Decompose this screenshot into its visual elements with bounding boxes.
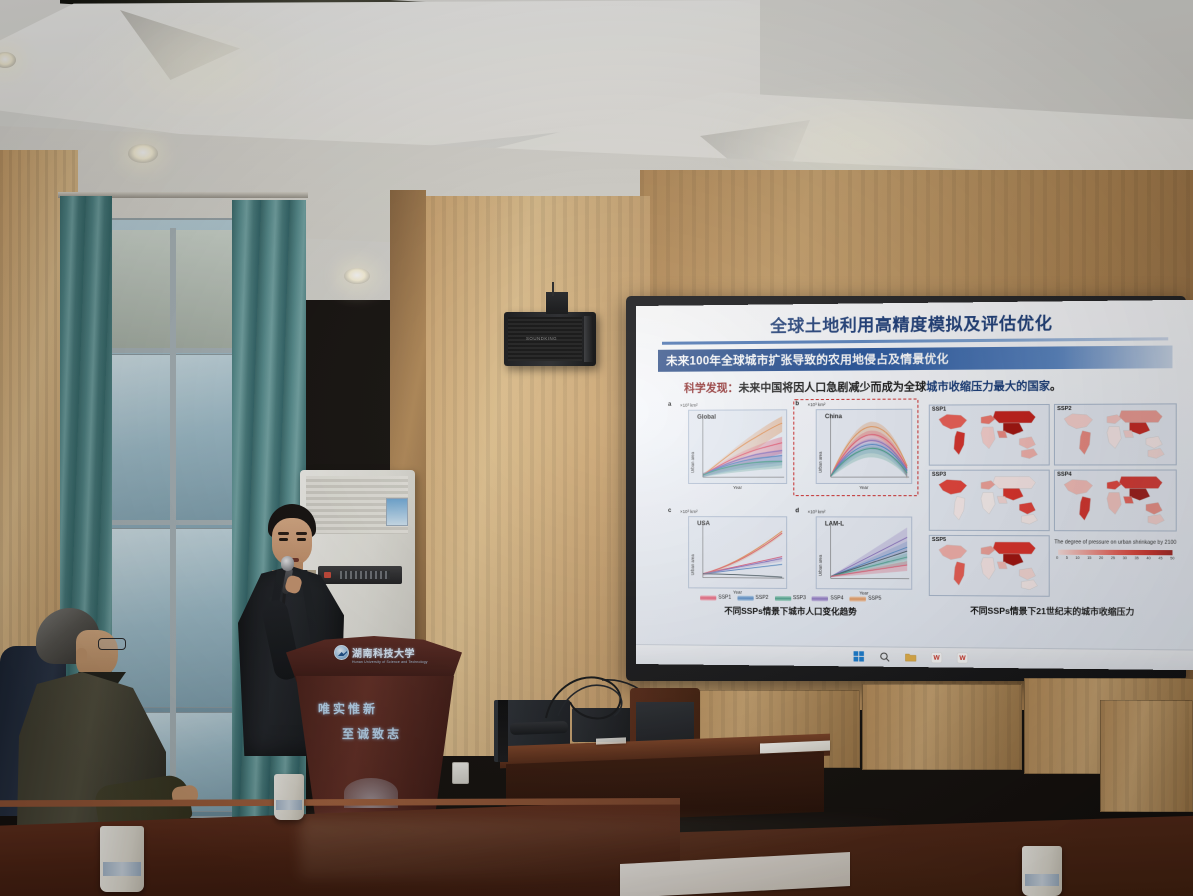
wps-presentation-icon[interactable]: W <box>956 652 968 664</box>
map-ssp3: SSP3 <box>929 470 1050 532</box>
speaker-brand-label: SOUNDKING <box>526 336 557 341</box>
chart-laml: LAM-L Urban area <box>816 516 913 589</box>
map-ssp4-geometry <box>1055 471 1176 531</box>
finding-label: 科学发现： <box>684 382 738 394</box>
presentation-screen[interactable]: 全球土地利用高精度模拟及评估优化 未来100年全球城市扩张导致的农用地侵占及情景… <box>636 300 1193 670</box>
speaker-eye-right <box>297 538 306 541</box>
colorbar-block: The degree of pressure on urban shrinkag… <box>1054 539 1177 555</box>
chart-ylabel-usa: Urban area <box>690 554 695 575</box>
legend-label-ssp3: SSP3 <box>793 595 806 601</box>
podium-motto: 唯实惟新 至诚致志 <box>318 700 438 742</box>
chart-china: China Urban <box>816 409 913 484</box>
map-label-ssp2: SSP2 <box>1057 406 1072 412</box>
legend-item-ssp1: SSP1 <box>700 594 731 600</box>
chart-ylabel-laml: Urban area <box>818 555 823 576</box>
map-ssp1: SSP1 <box>929 404 1050 466</box>
svg-text:W: W <box>933 655 940 662</box>
legend-label-ssp4: SSP4 <box>830 595 843 601</box>
cbar-tick-9: 45 <box>1158 556 1162 560</box>
svg-text:W: W <box>959 655 966 662</box>
map-label-ssp1: SSP1 <box>932 407 946 413</box>
legend-swatch-ssp5 <box>850 596 866 601</box>
finding-text-1: 未来中国将因人口急剧减少而成为全球 <box>738 381 926 394</box>
ac-display <box>340 571 390 579</box>
ac-power-led <box>324 572 331 578</box>
chart-usa: USA Urban area Year <box>688 516 787 589</box>
speaker-cable <box>552 282 554 296</box>
legend-label-ssp1: SSP1 <box>718 595 731 601</box>
chart-units-d: ×10³ km² <box>808 509 826 514</box>
chart-global-plot <box>689 410 786 483</box>
map-label-ssp3: SSP3 <box>932 472 946 478</box>
audience-ear <box>76 648 87 663</box>
cabinet-2 <box>862 684 1022 770</box>
legend-swatch-ssp4 <box>812 596 828 601</box>
cbar-tick-10: 50 <box>1170 557 1174 561</box>
wall-speaker: SOUNDKING <box>504 312 596 366</box>
colorbar-gradient <box>1058 550 1172 556</box>
downlight-2 <box>128 144 158 163</box>
paper-cup-1[interactable] <box>100 826 144 892</box>
legend-swatch-ssp1 <box>700 595 716 600</box>
ssp-legend: SSP1 SSP2 SSP3 SSP4 <box>666 594 916 602</box>
speaker-eyebrow-right <box>296 532 307 535</box>
map-ssp2-geometry <box>1055 404 1176 464</box>
chart-usa-plot <box>689 517 786 588</box>
chart-units-a: ×10³ km² <box>680 403 698 408</box>
chart-ylabel-china: Urban area <box>818 452 823 473</box>
slide-title: 全球土地利用高精度模拟及评估优化 <box>636 308 1193 338</box>
line-chart-panel: a ×10³ km² Global <box>666 401 916 617</box>
cbar-tick-8: 40 <box>1146 556 1150 560</box>
paper-cup-2[interactable] <box>274 774 304 820</box>
colorbar-title: The degree of pressure on urban shrinkag… <box>1054 539 1177 546</box>
chart-global: Global <box>688 409 787 484</box>
legend-item-ssp2: SSP2 <box>737 595 768 601</box>
cbar-tick-4: 20 <box>1099 556 1103 560</box>
rack-side-shadow <box>498 700 508 762</box>
legend-label-ssp5: SSP5 <box>868 596 881 602</box>
cbar-tick-1: 5 <box>1066 556 1068 560</box>
legend-item-ssp4: SSP4 <box>812 595 843 601</box>
handheld-microphone[interactable] <box>510 721 568 735</box>
motto-line-2: 至诚致志 <box>318 725 438 742</box>
map-ssp4: SSP4 <box>1054 469 1177 531</box>
wps-writer-icon[interactable]: W <box>930 651 942 663</box>
university-name-en: Hunan University of Science and Technolo… <box>352 660 428 664</box>
legend-swatch-ssp2 <box>737 595 753 600</box>
speaker-eyebrow-left <box>278 532 289 535</box>
conference-room-photo: SOUNDKING 全球土地利用高精度模拟及评估优化 未来100年全球城市扩张导… <box>0 0 1193 896</box>
chart-xlabel-china: Year <box>817 485 911 490</box>
ceiling-glow-1 <box>100 20 300 110</box>
university-emblem-icon <box>334 645 349 660</box>
wall-socket[interactable] <box>452 762 469 784</box>
cbar-tick-6: 30 <box>1123 556 1127 560</box>
panel-letter-d: d <box>795 508 799 514</box>
ac-energy-label <box>386 498 408 526</box>
chart-laml-plot <box>817 517 911 588</box>
cabinet-4 <box>1100 700 1193 812</box>
panel-letter-b: b <box>795 401 799 407</box>
university-name-cn: 湖南科技大学 <box>352 645 415 660</box>
map-label-ssp5: SSP5 <box>932 537 946 543</box>
microphone-head <box>281 556 294 571</box>
file-explorer-icon[interactable] <box>904 651 916 663</box>
slide-content: 全球土地利用高精度模拟及评估优化 未来100年全球城市扩张导致的农用地侵占及情景… <box>636 300 1193 650</box>
slide-section-banner: 未来100年全球城市扩张导致的农用地侵占及情景优化 <box>658 346 1172 372</box>
cbar-tick-3: 15 <box>1087 556 1091 560</box>
title-divider <box>662 337 1168 345</box>
search-icon[interactable] <box>878 651 890 663</box>
cbar-tick-5: 25 <box>1111 556 1115 560</box>
map-ssp5-geometry <box>930 536 1049 596</box>
university-logo: 湖南科技大学 <box>334 645 415 660</box>
cbar-tick-0: 0 <box>1056 556 1058 560</box>
map-ssp1-geometry <box>930 405 1049 465</box>
cbar-tick-7: 35 <box>1135 556 1139 560</box>
map-label-ssp4: SSP4 <box>1057 472 1072 478</box>
downlight-4 <box>344 268 370 284</box>
cbar-tick-2: 10 <box>1075 556 1079 560</box>
speaker-bracket <box>546 292 568 314</box>
panel-letter-a: a <box>668 402 671 408</box>
chart-units-c: ×10³ km² <box>680 509 698 514</box>
motto-line-1: 唯实惟新 <box>318 700 438 717</box>
banner-text: 未来100年全球城市扩张导致的农用地侵占及情景优化 <box>658 350 949 368</box>
speaker-eye-left <box>279 538 288 541</box>
panel-letter-c: c <box>668 508 671 514</box>
science-finding-line: 科学发现：未来中国将因人口急剧减少而成为全球城市收缩压力最大的国家。 <box>684 377 1170 396</box>
audience-glasses <box>98 638 126 650</box>
legend-swatch-ssp3 <box>775 595 791 600</box>
chart-ylabel-global: Urban area <box>690 452 695 473</box>
windows-start-icon[interactable] <box>853 651 865 663</box>
legend-item-ssp3: SSP3 <box>775 595 806 601</box>
caption-left: 不同SSPs情景下城市人口变化趋势 <box>666 604 916 618</box>
caption-right: 不同SSPs情景下21世纪末的城市收缩压力 <box>925 604 1181 618</box>
paper-cup-3[interactable] <box>1022 846 1062 896</box>
chart-xlabel-global: Year <box>689 485 786 490</box>
chart-units-b: ×10³ km² <box>808 402 826 407</box>
chart-china-plot <box>817 410 911 483</box>
map-ssp3-geometry <box>930 471 1049 530</box>
colorbar-ticks: 0 5 10 15 20 25 30 35 40 45 50 <box>1056 556 1175 561</box>
finding-text-3: 。 <box>1050 380 1061 392</box>
map-ssp5: SSP5 <box>929 535 1050 597</box>
legend-item-ssp5: SSP5 <box>850 595 882 601</box>
legend-label-ssp2: SSP2 <box>755 595 768 601</box>
finding-text-2: 城市收缩压力最大的国家 <box>926 380 1050 393</box>
map-ssp2: SSP2 <box>1054 403 1177 465</box>
map-panel: SSP1 SSP2 <box>925 399 1181 618</box>
